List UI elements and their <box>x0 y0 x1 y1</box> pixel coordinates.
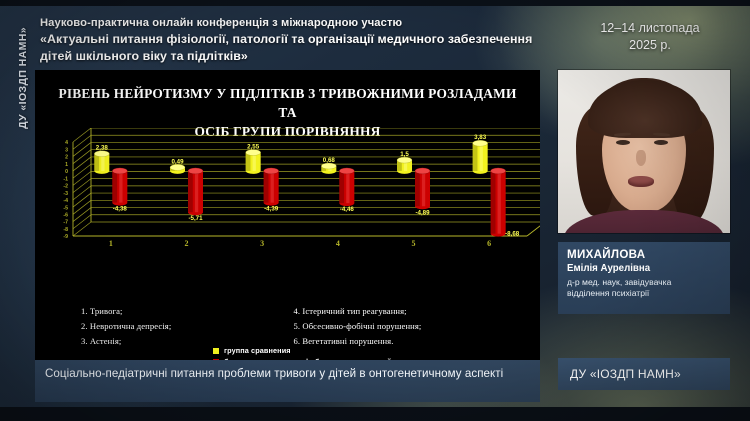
x-tick-4: 4 <box>336 239 340 248</box>
svg-text:4: 4 <box>65 140 68 146</box>
bar-comparison-2 <box>170 164 185 174</box>
vertical-brand-label: ДУ «ІОЗДП НАМН» <box>17 27 29 129</box>
talk-title-text: Соціально-педіатричні питання проблеми т… <box>45 366 530 381</box>
value-label-comparison-3: 2,55 <box>247 143 260 150</box>
bar-patients-5 <box>415 168 430 209</box>
chart-y-tick-labels: 43210-1-2-3-4-5-6-7-8-9 <box>63 140 68 240</box>
broadcast-stage: ДУ «ІОЗДП НАМН» Науково-практична онлайн… <box>0 0 750 421</box>
svg-text:0: 0 <box>65 169 68 175</box>
key-item-5: 5. Обсесивно-фобічні порушення; <box>294 320 495 333</box>
institution-badge: ДУ «ІОЗДП НАМН» <box>558 358 730 390</box>
svg-text:-6: -6 <box>63 213 68 219</box>
svg-text:-7: -7 <box>63 220 68 226</box>
x-tick-3: 3 <box>260 239 264 248</box>
x-tick-2: 2 <box>185 239 189 248</box>
bar-comparison-5 <box>397 157 412 174</box>
key-item-2: 2. Невротична депресія; <box>81 320 282 333</box>
speaker-eye-left <box>616 140 630 145</box>
bar-comparison-6 <box>473 140 488 174</box>
svg-text:-8: -8 <box>63 227 68 233</box>
key-item-3: 3. Астенія; <box>81 335 282 348</box>
category-key-column-left: 1. Тривога; 2. Невротична депресія; 3. А… <box>81 305 282 360</box>
letterbox-top <box>0 0 750 6</box>
value-label-comparison-1: 2,38 <box>96 145 109 152</box>
category-key-list: 1. Тривога; 2. Невротична депресія; 3. А… <box>35 305 540 360</box>
letterbox-bottom <box>0 407 750 421</box>
svg-text:-3: -3 <box>63 191 68 197</box>
value-label-patients-1: -4,38 <box>113 206 128 213</box>
bar-comparison-4 <box>321 163 336 174</box>
svg-text:-1: -1 <box>63 176 68 182</box>
key-item-4: 4. Істеричний тип реагування; <box>294 305 495 318</box>
x-tick-5: 5 <box>412 239 416 248</box>
speaker-webcam-feed <box>558 70 730 233</box>
chart-x-tick-labels: 123456 <box>109 239 491 248</box>
bar-patients-1 <box>112 168 127 206</box>
value-label-patients-5: -4,89 <box>415 209 430 216</box>
svg-text:1: 1 <box>65 162 68 168</box>
value-label-patients-4: -4,46 <box>340 206 355 213</box>
date-range: 12–14 листопада <box>570 20 730 37</box>
conference-title-line1: «Актуальні питання фізіології, патології… <box>40 31 540 48</box>
conference-header: Науково-практична онлайн конференція з м… <box>40 16 540 64</box>
svg-text:-5: -5 <box>63 205 68 211</box>
bar-comparison-3 <box>246 149 261 173</box>
speaker-mouth <box>628 176 654 187</box>
date-year: 2025 р. <box>570 37 730 54</box>
svg-text:-4: -4 <box>63 198 68 204</box>
speaker-eye-right <box>654 140 668 145</box>
bar-patients-4 <box>339 168 354 206</box>
value-label-comparison-6: 3,83 <box>474 134 487 141</box>
value-label-patients-3: -4,39 <box>264 206 279 213</box>
chart-canvas: 2,38-4,380,49-5,712,55-4,390,68-4,461,5-… <box>35 128 540 248</box>
svg-text:-9: -9 <box>63 234 68 240</box>
bar-patients-3 <box>264 168 279 206</box>
speaker-video-tile[interactable] <box>558 70 730 233</box>
talk-title-caption-bar: Соціально-педіатричні питання проблеми т… <box>35 360 540 402</box>
speaker-nose <box>636 150 646 166</box>
value-label-comparison-2: 0,49 <box>171 158 184 165</box>
vertical-brand-strip: ДУ «ІОЗДП НАМН» <box>10 8 36 148</box>
speaker-hair-fringe <box>588 80 702 138</box>
value-label-comparison-4: 0,68 <box>323 157 336 164</box>
value-label-comparison-5: 1,5 <box>400 151 409 158</box>
bar-patients-6 <box>491 168 506 237</box>
value-label-patients-2: -5,71 <box>188 215 203 222</box>
svg-text:3: 3 <box>65 147 68 153</box>
speaker-role-line1: д-р мед. наук, завідувачка <box>567 277 721 288</box>
conference-subtitle: Науково-практична онлайн конференція з м… <box>40 16 540 31</box>
speaker-surname: МИХАЙЛОВА <box>567 248 721 262</box>
svg-text:2: 2 <box>65 155 68 161</box>
key-item-1: 1. Тривога; <box>81 305 282 318</box>
bar-patients-2 <box>188 168 203 215</box>
svg-text:-2: -2 <box>63 184 68 190</box>
conference-date: 12–14 листопада 2025 р. <box>570 20 730 54</box>
bar-comparison-1 <box>94 151 109 174</box>
neuroticism-bar-chart: 2,38-4,380,49-5,712,55-4,390,68-4,461,5-… <box>35 128 540 248</box>
category-key-column-right: 4. Істеричний тип реагування; 5. Обсесив… <box>282 305 495 360</box>
speaker-given-name: Емілія Аурелівна <box>567 262 721 275</box>
x-tick-1: 1 <box>109 239 113 248</box>
value-label-patients-6: -8,68 <box>505 231 520 238</box>
conference-title-line2: дітей шкільного віку та підлітків» <box>40 48 540 65</box>
speaker-role-line2: відділення психіатрії <box>567 288 721 299</box>
institution-badge-label: ДУ «ІОЗДП НАМН» <box>570 367 681 381</box>
x-tick-6: 6 <box>487 239 491 248</box>
key-item-6: 6. Вегетативні порушення. <box>294 335 495 348</box>
slide-title-line1: РІВЕНЬ НЕЙРОТИЗМУ У ПІДЛІТКІВ З ТРИВОЖНИ… <box>51 84 524 122</box>
chart-axes <box>73 128 540 236</box>
speaker-info-panel: МИХАЙЛОВА Емілія Аурелівна д-р мед. наук… <box>558 242 730 314</box>
